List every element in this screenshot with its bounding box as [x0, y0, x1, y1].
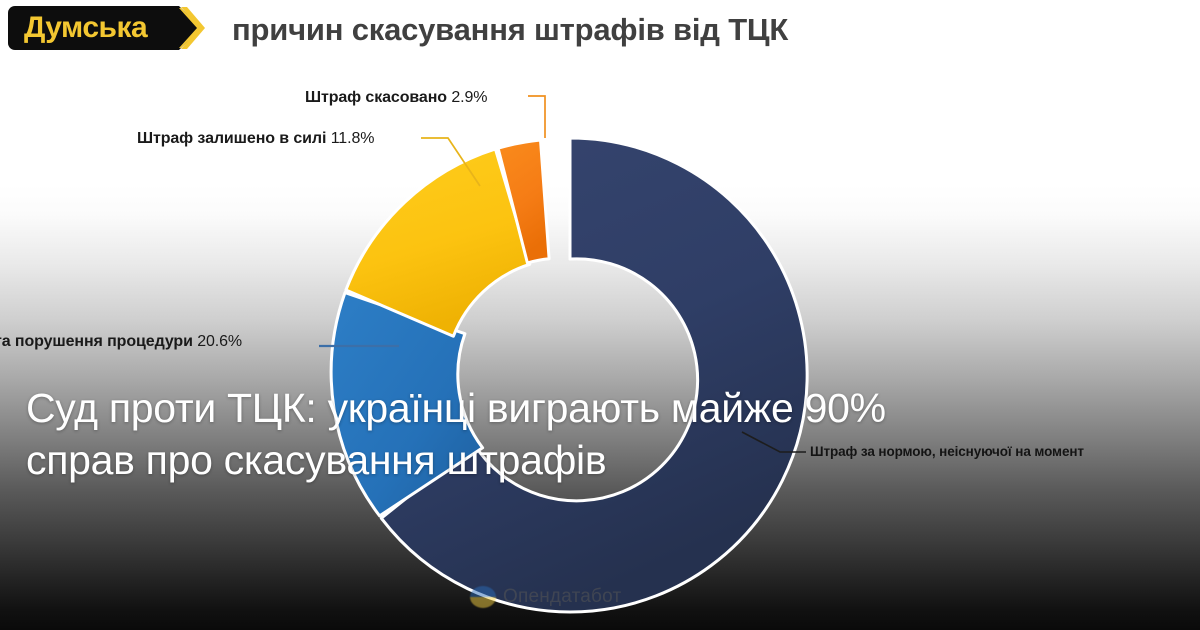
headline: Суд проти ТЦК: українці виграють майже 9…: [26, 382, 886, 486]
chevron-right-icon: [161, 6, 207, 50]
dumska-logo-plate: Думська: [8, 6, 161, 50]
data-label-procedure: та порушення процедури 20.6%: [0, 333, 242, 351]
data-label-cancelled-name: Штраф скасовано: [305, 89, 447, 106]
data-label-upheld: Штраф залишено в силі 11.8%: [137, 130, 374, 148]
watermark-text: Опендатабот: [503, 586, 621, 608]
watermark: Опендатабот: [470, 586, 621, 608]
leader-line-cancelled: [528, 96, 545, 138]
donut-chart: причин скасування штрафів від ТЦК Штраф …: [0, 0, 1200, 630]
data-label-upheld-value: 11.8%: [331, 130, 375, 147]
dumska-logo-text: Думська: [24, 13, 147, 43]
infographic-card: причин скасування штрафів від ТЦК Штраф …: [0, 0, 1200, 630]
chart-title: причин скасування штрафів від ТЦК: [232, 12, 788, 48]
data-label-procedure-value: 20.6%: [197, 333, 242, 350]
donut-chart-svg: [0, 0, 1200, 630]
data-label-cancelled-value: 2.9%: [451, 89, 487, 106]
data-label-cancelled: Штраф скасовано 2.9%: [305, 89, 487, 107]
data-label-procedure-name: та порушення процедури: [0, 333, 193, 350]
dumska-logo[interactable]: Думська: [8, 6, 207, 50]
opendatabot-logo-icon: [470, 586, 496, 608]
data-label-upheld-name: Штраф залишено в силі: [137, 130, 326, 147]
